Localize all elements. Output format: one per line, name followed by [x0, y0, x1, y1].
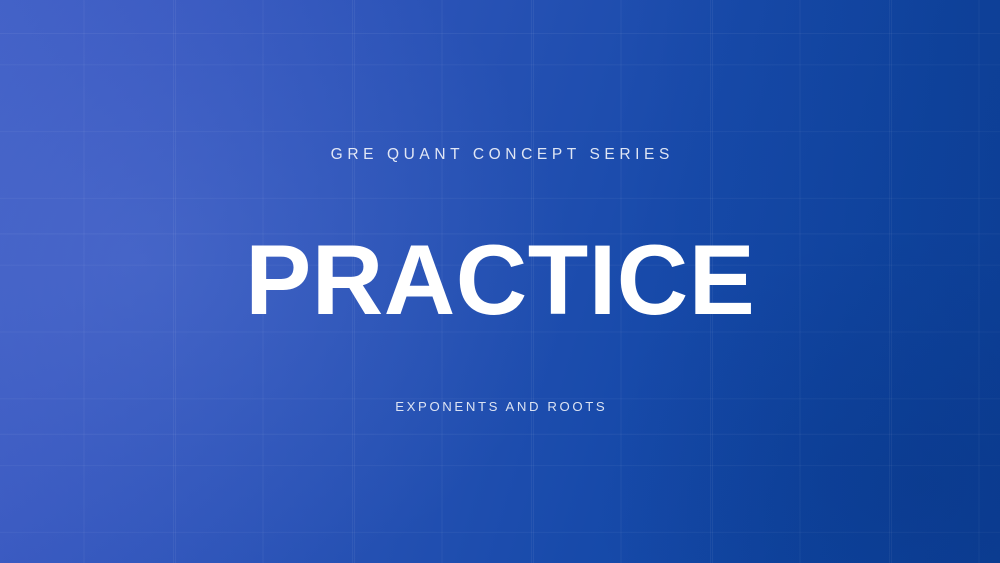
- slide-title: PRACTICE: [0, 228, 1000, 332]
- slide-subtitle: EXPONENTS AND ROOTS: [0, 398, 1000, 416]
- slide-eyebrow: GRE QUANT CONCEPT SERIES: [0, 145, 1000, 165]
- title-slide: GRE QUANT CONCEPT SERIES PRACTICE EXPONE…: [0, 0, 1000, 563]
- slide-content: GRE QUANT CONCEPT SERIES PRACTICE EXPONE…: [0, 0, 1000, 563]
